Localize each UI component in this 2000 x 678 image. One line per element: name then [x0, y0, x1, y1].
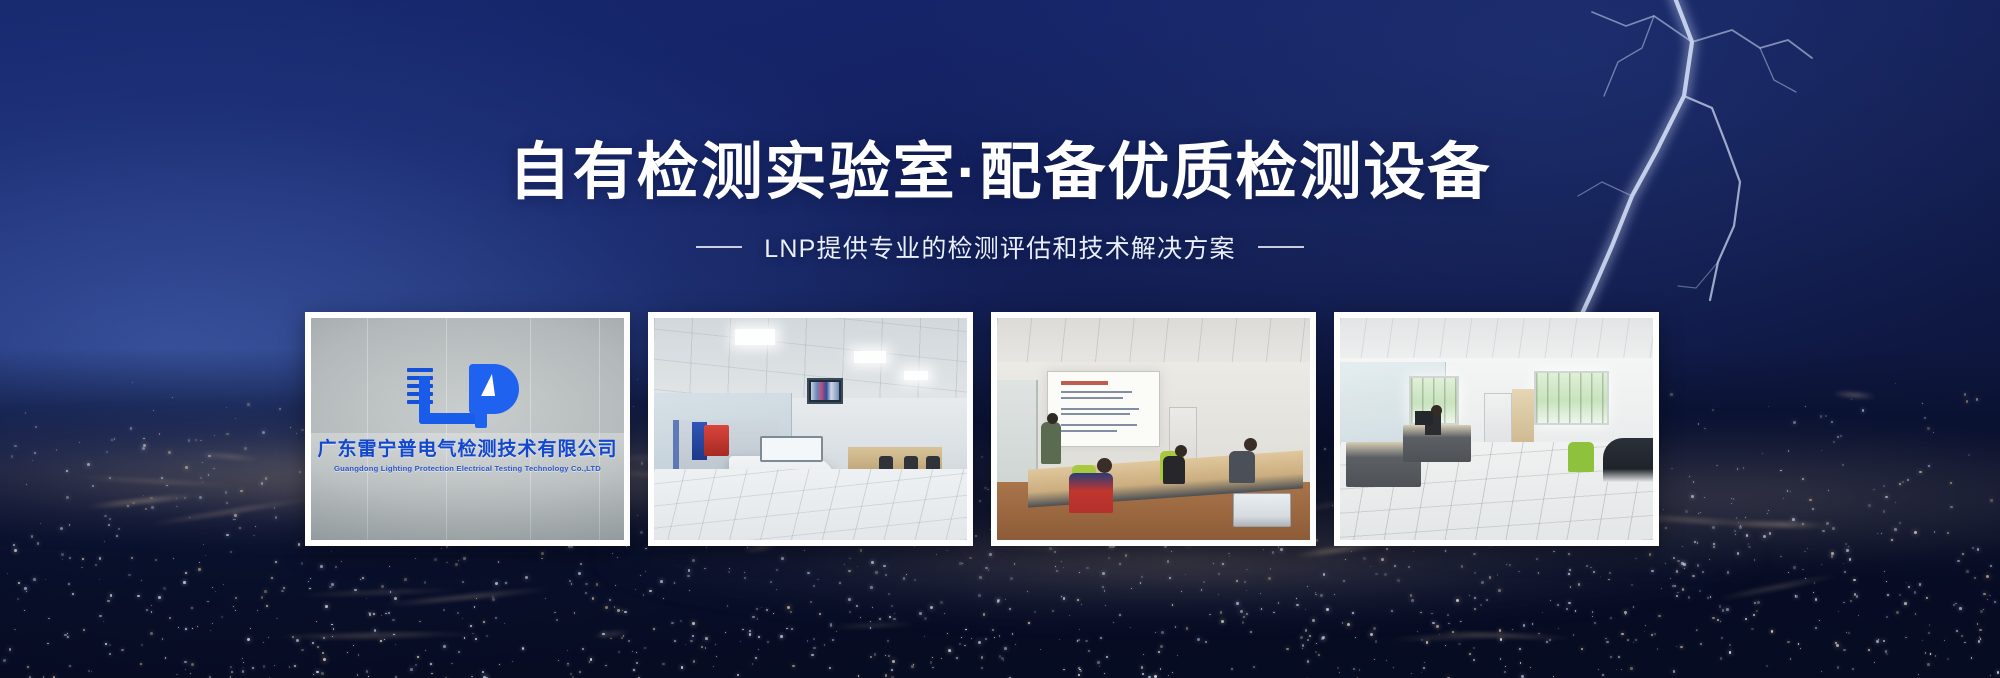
company-name-en: Guangdong Lighting Protection Electrical… — [334, 464, 601, 473]
hv-red-unit — [704, 425, 729, 456]
person-presenter — [1041, 422, 1061, 464]
laptop — [1233, 493, 1291, 527]
photo-gallery: 广东雷宁普电气检测技术有限公司 Guangdong Lighting Prote… — [305, 312, 1659, 546]
console-monitor — [760, 436, 823, 463]
room-ceiling — [997, 318, 1310, 367]
office-ceiling — [1340, 318, 1653, 362]
photo-office-image — [1340, 318, 1653, 540]
lnp-logo: 广东雷宁普电气检测技术有限公司 Guangdong Lighting Prote… — [311, 362, 624, 473]
dash-left-icon — [696, 246, 742, 248]
company-name-cn: 广东雷宁普电气检测技术有限公司 — [317, 434, 617, 461]
headline-block: 自有检测实验室·配备优质检测设备 LNP提供专业的检测评估和技术解决方案 — [0, 0, 2000, 265]
photo-office[interactable] — [1334, 312, 1659, 546]
projection-screen — [1047, 371, 1160, 446]
lnp-logo-mark — [407, 362, 529, 424]
person-red-jacket — [1069, 473, 1113, 513]
desk-monitor — [1415, 411, 1433, 425]
page-title: 自有检测实验室·配备优质检测设备 — [0, 140, 2000, 205]
person-attendee-3 — [1229, 451, 1255, 483]
person-red-jacket-head — [1097, 458, 1112, 473]
photo-logo-wall[interactable]: 广东雷宁普电气检测技术有限公司 Guangdong Lighting Prote… — [305, 312, 630, 546]
photo-logo-wall-image: 广东雷宁普电气检测技术有限公司 Guangdong Lighting Prote… — [311, 318, 624, 540]
subtitle-row: LNP提供专业的检测评估和技术解决方案 — [0, 229, 2000, 265]
photo-hv-laboratory[interactable] — [648, 312, 973, 546]
dash-right-icon — [1258, 246, 1304, 248]
person-attendee-2-head — [1175, 445, 1187, 457]
reception-counter — [1603, 438, 1653, 482]
page-subtitle: LNP提供专业的检测评估和技术解决方案 — [764, 229, 1235, 265]
office-chair — [1568, 442, 1594, 472]
office-window-right — [1534, 371, 1609, 424]
hero-banner: 自有检测实验室·配备优质检测设备 LNP提供专业的检测评估和技术解决方案 — [0, 0, 2000, 678]
person-attendee-2 — [1163, 456, 1185, 484]
photo-training-room-image — [997, 318, 1310, 540]
photo-hv-laboratory-image — [654, 318, 967, 540]
room-door — [997, 380, 1038, 482]
lab-floor — [654, 469, 967, 540]
wall-mounted-tv — [807, 378, 843, 404]
photo-training-room[interactable] — [991, 312, 1316, 546]
